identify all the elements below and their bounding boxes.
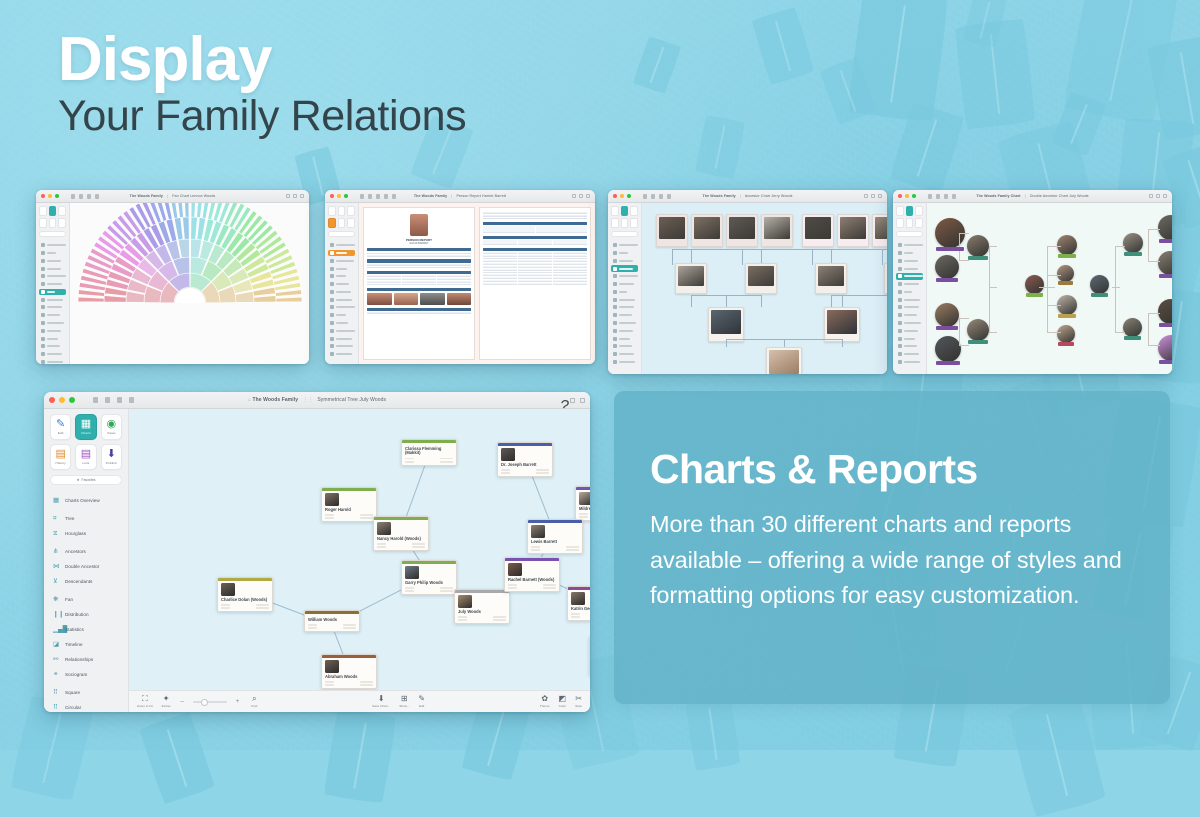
views-button[interactable] (915, 206, 923, 216)
sidebar[interactable] (608, 203, 642, 374)
sidebar[interactable] (893, 203, 927, 374)
connector-line (989, 332, 997, 333)
sidebar-item-sociogram[interactable]: ⚭ Sociogram (48, 667, 124, 681)
person-card[interactable] (745, 263, 777, 294)
person-dates (840, 243, 867, 245)
report-sheet-right (479, 207, 591, 360)
history-button[interactable] (328, 218, 336, 228)
maximize-icon[interactable] (55, 194, 59, 198)
person-card[interactable]: Abraham Woods (321, 654, 377, 689)
person-photo (935, 336, 961, 362)
sidebar-item-symmetrical[interactable] (896, 351, 923, 357)
sidebar-item-relationships[interactable] (896, 320, 923, 326)
traffic-lights[interactable] (613, 194, 631, 198)
sidebar-item-fan[interactable] (39, 289, 66, 295)
close-icon[interactable] (330, 194, 334, 198)
sidebar-item-reports-overview[interactable] (328, 242, 355, 248)
person-card[interactable]: July Woods (454, 589, 510, 624)
person-dates (678, 290, 705, 292)
person-card[interactable] (708, 307, 744, 342)
sidebar-item-square[interactable]: ⠿ Square (48, 685, 124, 699)
titlebar-tool-icons[interactable] (71, 194, 99, 199)
sidebar-item-sociogram[interactable] (611, 328, 638, 334)
find-label: Find (251, 704, 257, 708)
list-item-icon (41, 274, 45, 278)
person-bubble[interactable] (1057, 325, 1075, 346)
sidebar-item-ancestors[interactable] (896, 265, 923, 271)
person-bubble[interactable] (967, 235, 989, 260)
close-icon[interactable] (613, 194, 617, 198)
sidebar-item-relationships[interactable] (611, 320, 638, 326)
maximize-icon[interactable] (912, 194, 916, 198)
sidebar-item-charts-overview[interactable] (39, 242, 66, 248)
titlebar-tool-icons[interactable] (93, 397, 134, 403)
lists-button[interactable]: ▤ Lists (75, 444, 96, 470)
bubble-base (936, 326, 958, 330)
sidebar-item-label (619, 291, 627, 293)
favorites-button[interactable]: ★ Favorites (50, 475, 122, 485)
sidebar-item-person[interactable] (328, 250, 355, 256)
zoom-out-button[interactable]: – (180, 699, 183, 705)
connector-line (831, 249, 832, 263)
person-photo (501, 448, 515, 461)
list-item-icon (330, 251, 334, 255)
person-card[interactable] (656, 214, 688, 247)
maximize-icon[interactable] (344, 194, 348, 198)
views-label: Views (107, 431, 116, 435)
ancestor-chart-canvas[interactable] (642, 203, 887, 374)
sidebar-item-statistics[interactable]: ▁▄█ Statistics (48, 622, 124, 636)
sidebar-item-hourglass[interactable]: ⧖ Hourglass (48, 526, 124, 540)
fan-chart-canvas[interactable] (70, 203, 309, 364)
sidebar-item-hourglass[interactable] (896, 258, 923, 264)
sidebar-item-descendant[interactable] (328, 289, 355, 295)
person-card[interactable]: Roger Harold (321, 487, 377, 522)
sidebar-item-circular[interactable] (39, 343, 66, 349)
double-ancestor-icon: ⋈ (53, 563, 60, 570)
favorites-button[interactable] (39, 231, 66, 237)
sidebar-item-ancestors[interactable]: ⋔ Ancestors (48, 544, 124, 558)
sidebar-item-sources[interactable] (328, 320, 355, 326)
close-icon[interactable] (898, 194, 902, 198)
person-photo (659, 217, 686, 239)
sidebar-item-sociogram[interactable] (39, 328, 66, 334)
window-ancestor-chart[interactable]: The Woods Family | Ancestor Chart Jerry … (608, 190, 887, 374)
titlebar[interactable]: The Woods Family | Ancestor Chart Jerry … (608, 190, 887, 203)
close-icon[interactable] (49, 397, 55, 403)
list-item-icon (613, 321, 617, 325)
main-sidebar[interactable]: ✎ Edit▦ Charts◉ Views▤ History▤ Lists⬇ P… (44, 409, 129, 712)
tool-grid[interactable] (611, 206, 638, 228)
section-band (367, 308, 471, 311)
color-button[interactable]: ◩ Color (559, 695, 567, 708)
sidebar-item-descendants[interactable] (39, 281, 66, 287)
person-card[interactable] (675, 263, 707, 294)
person-bubble[interactable] (1158, 251, 1172, 278)
history-button[interactable] (896, 218, 904, 228)
publish-button[interactable] (915, 218, 923, 228)
edit-button[interactable] (896, 206, 904, 216)
sidebar-item-distribution[interactable] (39, 296, 66, 302)
bottom-right-tools[interactable]: ✿ Theme◩ Color✂ Style (540, 695, 582, 708)
titlebar-right-icons[interactable]: ? (560, 398, 585, 403)
person-bubble[interactable] (935, 255, 959, 282)
chart-type-list[interactable]: ▦ Charts Overview⌗ Tree⧖ Hourglass⋔ Ance… (44, 489, 128, 712)
person-card[interactable]: Clarissa Flemming (Makkit) (401, 439, 457, 466)
charts-button[interactable] (621, 206, 629, 216)
charts-label: Charts (81, 431, 91, 435)
edit-button[interactable] (328, 206, 336, 216)
sidebar-item-double-ancestor[interactable] (611, 273, 638, 279)
double-ancestor-canvas[interactable] (927, 203, 1172, 374)
titlebar-right-icons[interactable] (286, 194, 304, 198)
lists-icon: ▤ (81, 449, 91, 460)
charts-button[interactable] (49, 206, 57, 216)
connector-line (959, 318, 960, 346)
window-symmetrical-tree[interactable]: ⌂ The Woods Family ⋮⋮ Symmetrical Tree J… (44, 392, 590, 712)
minimize-icon[interactable] (620, 194, 624, 198)
section-band (483, 222, 587, 225)
person-card[interactable]: Dr. Joseph Barrett (497, 442, 553, 477)
person-card-root[interactable] (766, 347, 802, 374)
window-fan-chart[interactable]: The Woods Family | Fan Chart Lennox Wood… (36, 190, 309, 364)
close-icon[interactable] (41, 194, 45, 198)
sidebar-item-double-ancestor[interactable] (896, 273, 923, 279)
sidebar-item-double-ancestor[interactable] (39, 273, 66, 279)
sidebar-item-fan[interactable] (611, 289, 638, 295)
charts-button[interactable]: ▦ Charts (75, 414, 96, 440)
sidebar-item-descendants[interactable] (611, 281, 638, 287)
maximize-icon[interactable] (69, 397, 75, 403)
sidebar-item-timeline-report[interactable] (328, 328, 355, 334)
sidebar-item-fractal-tree[interactable] (896, 359, 923, 365)
lists-button[interactable] (906, 218, 914, 228)
section-band (483, 236, 587, 239)
sidebar-item-square[interactable] (39, 335, 66, 341)
sidebar-item-person-compact[interactable] (328, 258, 355, 264)
sidebar-item-symmetrical[interactable] (611, 351, 638, 357)
history-button[interactable] (39, 218, 47, 228)
sidebar-item-distribution[interactable] (896, 296, 923, 302)
person-card[interactable]: William Woods (304, 610, 360, 632)
list-item-icon (898, 274, 902, 278)
sidebar-item-square[interactable] (611, 335, 638, 341)
person-bubble[interactable] (1158, 299, 1172, 327)
person-card[interactable]: Nancy Harold (Woods) (373, 516, 429, 551)
lists-button[interactable] (338, 218, 346, 228)
person-card[interactable] (872, 214, 887, 247)
sidebar-item-sociogram[interactable] (896, 328, 923, 334)
sidebar-item-descendants[interactable]: ⊻ Descendants (48, 574, 124, 588)
window-chart-title: Symmetrical Tree July Woods (317, 397, 386, 403)
bottom-toolbar[interactable]: ⛶ Zoom to Fit✦ Extras – + ⌕ Find ⬇ Save … (129, 690, 590, 712)
sidebar-item-statistics[interactable] (39, 304, 66, 310)
list-item-icon (330, 267, 334, 271)
sidebar-item-label (336, 330, 355, 332)
sidebar-item-hourglass[interactable] (611, 258, 638, 264)
window-person-report[interactable]: The Woods Family | Person Report Harriet… (325, 190, 595, 364)
sidebar-item-timeline[interactable] (39, 312, 66, 318)
list-item-icon (613, 290, 617, 294)
titlebar[interactable]: ⌂ The Woods Family ⋮⋮ Symmetrical Tree J… (44, 392, 590, 409)
publish-button[interactable] (630, 218, 638, 228)
sidebar-item-label (47, 345, 60, 347)
bubble-base (1058, 314, 1076, 318)
sidebar-item-distribution[interactable] (611, 296, 638, 302)
titlebar[interactable]: The Woods Family | Fan Chart Lennox Wood… (36, 190, 309, 203)
maximize-icon[interactable] (627, 194, 631, 198)
sidebar-item-label (619, 268, 633, 270)
lists-button[interactable] (621, 218, 629, 228)
sidebar-item-charts-overview[interactable] (611, 242, 638, 248)
search-icon: ⌕ (252, 695, 256, 703)
person-card[interactable] (802, 214, 834, 247)
list-item-icon (613, 267, 617, 271)
person-card[interactable] (884, 263, 887, 294)
sidebar-item-label (619, 252, 628, 254)
sidebar-item-index[interactable] (328, 312, 355, 318)
sidebar-item-tree[interactable]: ⌗ Tree (48, 511, 124, 525)
sidebar-item-tree[interactable] (611, 250, 638, 256)
window-double-ancestor-chart[interactable]: The Woods Family Chart | Double Ancestor… (893, 190, 1172, 374)
grid-icon: ▦ (53, 497, 60, 504)
person-card[interactable] (726, 214, 758, 247)
sidebar-item-label (619, 275, 638, 277)
edit-label: Edit (58, 431, 64, 435)
sidebar-item-event-report[interactable] (328, 351, 355, 357)
person-card[interactable] (837, 214, 869, 247)
views-button[interactable] (58, 206, 66, 216)
sidebar-item-fractal-tree[interactable] (611, 359, 638, 365)
sidebar-item-label (336, 299, 352, 301)
sidebar-item-distribution[interactable]: ❙❙ Distribution (48, 607, 124, 621)
sidebar-item-tree[interactable] (896, 250, 923, 256)
sidebar-item-label (619, 306, 634, 308)
person-bubble[interactable] (1090, 275, 1109, 297)
traffic-lights[interactable] (41, 194, 59, 198)
edit-button[interactable] (611, 206, 619, 216)
style-button[interactable]: ✂ Style (575, 695, 582, 708)
edit-button[interactable] (39, 206, 47, 216)
sidebar-list[interactable] (328, 242, 355, 357)
sidebar-item-label (904, 299, 920, 301)
sidebar-item-circular[interactable] (896, 343, 923, 349)
sidebar-item-relationships[interactable] (39, 320, 66, 326)
views-button[interactable]: ◉ Views (101, 414, 122, 440)
sidebar-item-charts-overview[interactable]: ▦ Charts Overview (48, 493, 124, 507)
bubble-base (1058, 281, 1074, 285)
sidebar-item-chart-report[interactable] (328, 335, 355, 341)
sidebar-list[interactable] (39, 242, 66, 364)
person-card[interactable] (815, 263, 847, 294)
titlebar-tool-icons[interactable] (928, 194, 956, 199)
person-card[interactable] (824, 307, 860, 342)
list-item-icon (613, 243, 617, 247)
zoom-in-button[interactable]: + (236, 699, 240, 705)
sidebar-item-birth[interactable] (328, 273, 355, 279)
person-bubble[interactable] (1123, 318, 1142, 340)
sidebar-item-fractal-tree[interactable] (39, 359, 66, 364)
traffic-lights[interactable] (898, 194, 916, 198)
zoom-slider[interactable] (193, 701, 227, 703)
minimize-icon[interactable] (59, 397, 65, 403)
person-bubble[interactable] (1025, 275, 1044, 297)
titlebar-right-icons[interactable] (572, 194, 590, 198)
sidebar-item-square[interactable] (896, 335, 923, 341)
person-card[interactable]: Charlice Dolan (Woods) (217, 577, 273, 612)
connector-line (882, 249, 887, 250)
person-photo (1158, 335, 1172, 361)
zoom-to-fit-button[interactable]: ⛶ Zoom to Fit (137, 695, 153, 708)
bottom-center-tools[interactable]: ⬇ Save Chart...⊞ Show...✎ Edit (372, 695, 425, 708)
sidebar-item-double-ancestor[interactable]: ⋈ Double Ancestor (48, 559, 124, 573)
titlebar[interactable]: The Woods Family Chart | Double Ancestor… (893, 190, 1172, 203)
sidebar-item-timeline[interactable] (611, 312, 638, 318)
sidebar-list[interactable] (896, 242, 923, 365)
show--button[interactable]: ⊞ Show... (399, 695, 409, 708)
extras-button[interactable]: ✦ Extras (162, 695, 171, 708)
timeline-icon: ◪ (53, 641, 60, 648)
sidebar-item-symmetrical[interactable] (39, 351, 66, 357)
sidebar-item-statistics[interactable] (896, 304, 923, 310)
traffic-lights[interactable] (330, 194, 348, 198)
minimize-icon[interactable] (905, 194, 909, 198)
sidebar-item-label (904, 244, 923, 246)
connector-line (842, 339, 843, 347)
sidebar-item-register-report[interactable] (328, 304, 355, 310)
sidebar-item-fan[interactable]: ❋ Fan (48, 592, 124, 606)
publish-button[interactable] (347, 218, 355, 228)
sidebar-item-label (47, 283, 62, 285)
favorites-button[interactable] (611, 231, 638, 237)
list-item-icon (41, 243, 45, 247)
person-bubble[interactable] (1057, 295, 1077, 318)
sidebar-item-relationship[interactable] (328, 296, 355, 302)
sidebar-item-relationships[interactable]: ⚯ Relationships (48, 652, 124, 666)
charts-button[interactable] (338, 206, 346, 216)
history-button[interactable]: ▤ History (50, 444, 71, 470)
sidebar-item-statistics[interactable] (611, 304, 638, 310)
list-item-icon (898, 321, 902, 325)
zoom-controls[interactable]: – + (180, 699, 239, 705)
person-card[interactable] (691, 214, 723, 247)
sidebar-item-label (336, 244, 355, 246)
person-photo (221, 583, 235, 596)
person-bubble[interactable] (1123, 233, 1143, 256)
sidebar-item-ancestor[interactable] (328, 281, 355, 287)
titlebar[interactable]: The Woods Family | Person Report Harriet… (325, 190, 595, 203)
titlebar-tool-icons[interactable] (643, 194, 671, 199)
edit-button[interactable]: ✎ Edit (50, 414, 71, 440)
person-bubble[interactable] (967, 319, 989, 344)
person-dates (748, 290, 775, 292)
traffic-lights[interactable] (49, 397, 75, 403)
person-photo (571, 592, 585, 605)
titlebar-right-icons[interactable] (864, 194, 882, 198)
publish-button[interactable]: ⬇ Publish (101, 444, 122, 470)
sidebar-item-charts-overview[interactable] (896, 242, 923, 248)
person-photo (1057, 265, 1074, 282)
connector-line (672, 249, 673, 265)
sidebar-list[interactable] (611, 242, 638, 365)
sidebar[interactable] (325, 203, 359, 364)
publish-button[interactable] (58, 218, 66, 228)
titlebar-tool-icons[interactable] (360, 194, 396, 199)
history-button[interactable] (611, 218, 619, 228)
list-item-icon (613, 337, 617, 341)
list-item-icon (330, 337, 334, 341)
connector-line (1148, 229, 1160, 230)
symmetrical-tree-canvas[interactable]: Clarissa Flemming (Makkit) Roger Harold … (129, 409, 590, 712)
minimize-icon[interactable] (48, 194, 52, 198)
person-card[interactable] (761, 214, 793, 247)
person-card[interactable]: Garry Philip Woods (401, 560, 457, 595)
person-card[interactable]: Margery Sideau (George) (589, 636, 590, 676)
save-chart--button[interactable]: ⬇ Save Chart... (372, 695, 390, 708)
connector-line (1047, 332, 1061, 333)
favorites-button[interactable] (328, 231, 355, 237)
person-bubble[interactable] (935, 303, 959, 330)
find-tool[interactable]: ⌕ Find (251, 695, 257, 708)
person-bubble[interactable] (935, 336, 961, 365)
views-button[interactable] (630, 206, 638, 216)
sidebar-item-status-report[interactable] (328, 343, 355, 349)
report-canvas[interactable]: PERSON REPORT SACHI BARRET (359, 203, 595, 364)
views-button[interactable] (347, 206, 355, 216)
button-label: Extras (162, 704, 171, 708)
edit-button[interactable]: ✎ Edit (418, 695, 425, 708)
sidebar-item-ancestors[interactable] (611, 265, 638, 271)
sidebar-item-label (904, 353, 919, 355)
charts-button[interactable] (906, 206, 914, 216)
sidebar-item-family[interactable] (328, 265, 355, 271)
tool-grid[interactable] (328, 206, 355, 228)
sidebar-item-tree[interactable] (39, 250, 66, 256)
sidebar-item-descendants[interactable] (896, 281, 923, 287)
sidebar-item-hourglass[interactable] (39, 258, 66, 264)
person-bubble[interactable] (1158, 215, 1172, 243)
bottom-left-tools[interactable]: ⛶ Zoom to Fit✦ Extras (137, 695, 170, 708)
theme-button[interactable]: ✿ Theme (540, 695, 550, 708)
person-name: Mildred Jones (Barnett) (579, 507, 590, 512)
list-item-icon (330, 298, 334, 302)
tool-grid[interactable] (896, 206, 923, 228)
sidebar[interactable] (36, 203, 70, 364)
titlebar-right-icons[interactable] (1149, 194, 1167, 198)
sidebar-item-ancestors[interactable] (39, 265, 66, 271)
favorites-button[interactable] (896, 231, 923, 237)
person-dates (805, 243, 832, 245)
tool-grid[interactable] (39, 206, 66, 228)
person-bubble[interactable] (935, 218, 965, 251)
sidebar-item-timeline[interactable]: ◪ Timeline (48, 637, 124, 651)
connector-line (1047, 246, 1061, 247)
minimize-icon[interactable] (337, 194, 341, 198)
person-card[interactable]: Mildred Jones (Barnett) (575, 486, 590, 521)
sidebar-item-circular[interactable] (611, 343, 638, 349)
lists-button[interactable] (49, 218, 57, 228)
person-bubble[interactable] (1158, 335, 1172, 364)
connector-line (959, 345, 969, 346)
mode-toolbar[interactable]: ✎ Edit▦ Charts◉ Views▤ History▤ Lists⬇ P… (44, 409, 128, 489)
sidebar-item-circular[interactable]: ⠿ Circular (48, 700, 124, 712)
person-card[interactable]: Rachel Barnett (Woods) (504, 557, 560, 592)
mode-button-grid[interactable]: ✎ Edit▦ Charts◉ Views▤ History▤ Lists⬇ P… (50, 414, 122, 470)
sidebar-item-timeline[interactable] (896, 312, 923, 318)
sidebar-item-fan[interactable] (896, 289, 923, 295)
person-card[interactable]: Katrin George (Barrett) (567, 586, 590, 621)
person-card[interactable]: Lewis Barrett (527, 519, 583, 554)
